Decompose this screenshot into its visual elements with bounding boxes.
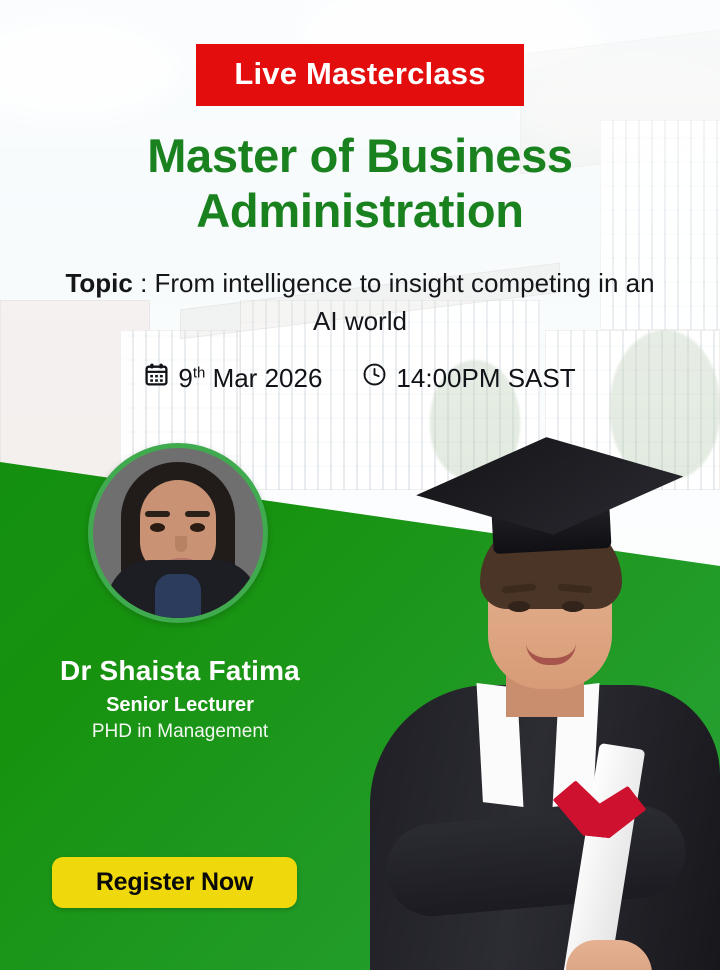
speaker-portrait xyxy=(88,443,268,623)
event-date-ordinal: th xyxy=(193,364,206,381)
topic-separator: : xyxy=(133,268,155,298)
topic-text: From intelligence to insight competing i… xyxy=(155,268,655,336)
title-line-1: Master of Business xyxy=(0,128,720,183)
speaker-qualification: PHD in Management xyxy=(0,721,360,743)
calendar-icon xyxy=(144,362,169,394)
event-date-rest: Mar 2026 xyxy=(205,363,322,393)
title-line-2: Administration xyxy=(0,183,720,238)
graduate-photo xyxy=(330,385,720,970)
event-date-text: 9th Mar 2026 xyxy=(178,363,322,394)
page-title: Master of Business Administration xyxy=(0,128,720,239)
speaker-role: Senior Lecturer xyxy=(0,694,360,717)
speaker-name: Dr Shaista Fatima xyxy=(0,655,360,687)
event-date: 9th Mar 2026 xyxy=(144,362,322,394)
register-now-button[interactable]: Register Now xyxy=(52,857,297,908)
event-date-day: 9 xyxy=(178,363,192,393)
topic-line: Topic : From intelligence to insight com… xyxy=(0,265,720,340)
topic-label: Topic xyxy=(65,268,132,298)
header-block: Live Masterclass Master of Business Admi… xyxy=(0,0,720,394)
live-masterclass-badge: Live Masterclass xyxy=(196,44,523,106)
flyer-canvas: Live Masterclass Master of Business Admi… xyxy=(0,0,720,970)
